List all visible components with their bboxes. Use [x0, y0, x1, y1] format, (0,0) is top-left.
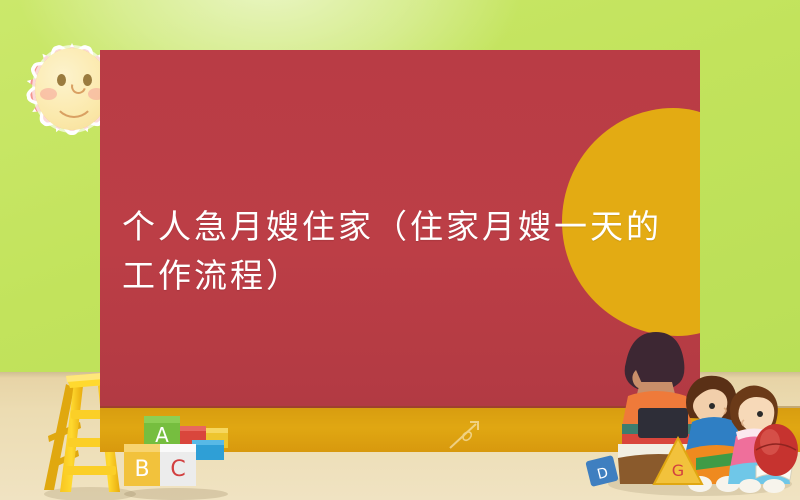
- decorative-arrow-icon: [446, 418, 484, 452]
- sun-eye-left: [57, 74, 66, 86]
- block-b: B: [124, 444, 160, 486]
- sun-face: [35, 48, 109, 130]
- svg-text:C: C: [170, 457, 185, 482]
- svg-text:A: A: [155, 423, 169, 447]
- sun-smile: [53, 88, 95, 118]
- page-title: 个人急月嫂住家（住家月嫂一天的工作流程）: [122, 202, 694, 300]
- block-g: G: [654, 438, 702, 484]
- alphabet-blocks: A B C: [118, 414, 248, 500]
- floor-toys: G D: [560, 428, 800, 500]
- block-d: D: [585, 455, 618, 487]
- svg-text:G: G: [672, 461, 684, 480]
- svg-text:B: B: [134, 457, 149, 482]
- block-c: C: [160, 444, 196, 486]
- banner-canvas: 个人急月嫂住家（住家月嫂一天的工作流程） A: [0, 0, 800, 500]
